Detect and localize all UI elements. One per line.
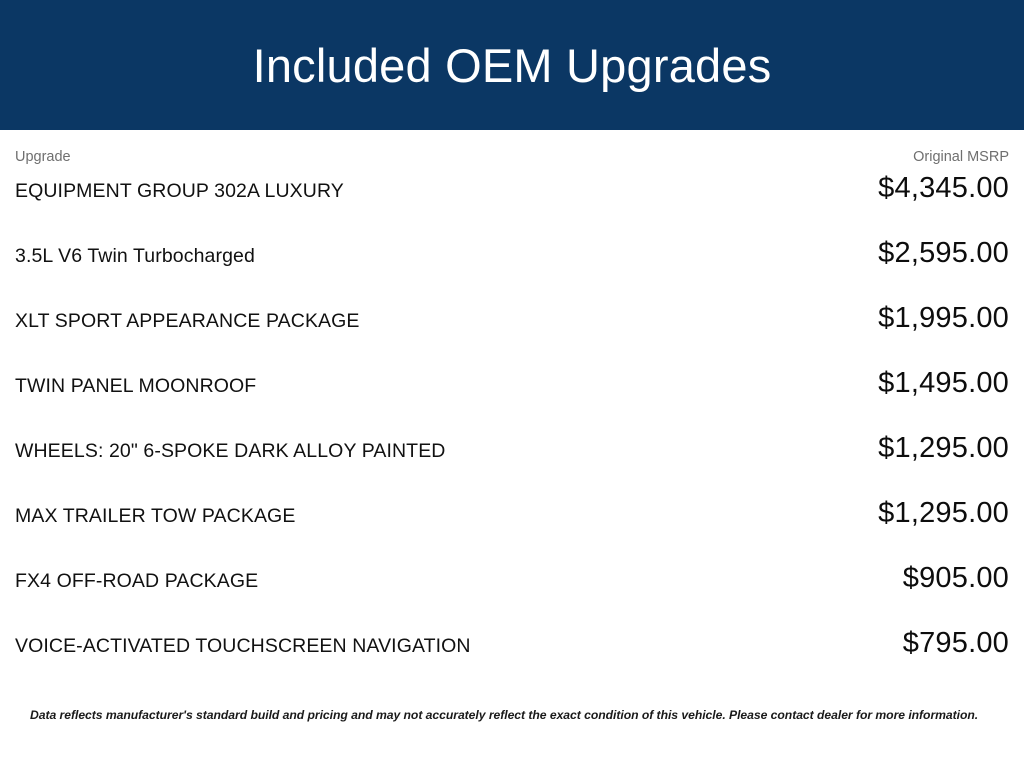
table-row: MAX TRAILER TOW PACKAGE $1,295.00 [15,499,1009,564]
table-row: VOICE-ACTIVATED TOUCHSCREEN NAVIGATION $… [15,629,1009,694]
upgrade-price: $795.00 [903,629,1009,658]
upgrade-name: 3.5L V6 Twin Turbocharged [15,247,878,267]
upgrade-name: FX4 OFF-ROAD PACKAGE [15,572,903,592]
upgrade-price: $1,995.00 [878,304,1009,333]
table-header-row: Upgrade Original MSRP [15,130,1009,174]
upgrade-name: TWIN PANEL MOONROOF [15,377,878,397]
column-header-upgrade: Upgrade [15,150,71,165]
table-row: FX4 OFF-ROAD PACKAGE $905.00 [15,564,1009,629]
oem-upgrades-page: Included OEM Upgrades Upgrade Original M… [0,0,1024,768]
upgrade-price: $2,595.00 [878,239,1009,268]
upgrade-name: WHEELS: 20" 6-SPOKE DARK ALLOY PAINTED [15,442,878,462]
upgrade-name: MAX TRAILER TOW PACKAGE [15,507,878,527]
upgrade-price: $1,295.00 [878,434,1009,463]
upgrade-name: VOICE-ACTIVATED TOUCHSCREEN NAVIGATION [15,637,903,657]
upgrade-price: $1,295.00 [878,499,1009,528]
bottom-spacer [15,723,1009,768]
upgrade-price: $1,495.00 [878,369,1009,398]
table-row: WHEELS: 20" 6-SPOKE DARK ALLOY PAINTED $… [15,434,1009,499]
upgrade-price: $905.00 [903,564,1009,593]
table-row: 3.5L V6 Twin Turbocharged $2,595.00 [15,239,1009,304]
table-body: EQUIPMENT GROUP 302A LUXURY $4,345.00 3.… [15,174,1009,694]
table-row: XLT SPORT APPEARANCE PACKAGE $1,995.00 [15,304,1009,369]
table-row: EQUIPMENT GROUP 302A LUXURY $4,345.00 [15,174,1009,239]
upgrade-price: $4,345.00 [878,174,1009,203]
page-title: Included OEM Upgrades [253,42,772,89]
footnote-area: Data reflects manufacturer's standard bu… [15,694,1009,723]
disclaimer-text: Data reflects manufacturer's standard bu… [30,708,994,723]
column-header-msrp: Original MSRP [913,150,1009,165]
upgrade-name: EQUIPMENT GROUP 302A LUXURY [15,182,878,202]
upgrades-table: Upgrade Original MSRP EQUIPMENT GROUP 30… [0,130,1024,768]
table-row: TWIN PANEL MOONROOF $1,495.00 [15,369,1009,434]
page-header-band: Included OEM Upgrades [0,0,1024,130]
upgrade-name: XLT SPORT APPEARANCE PACKAGE [15,312,878,332]
